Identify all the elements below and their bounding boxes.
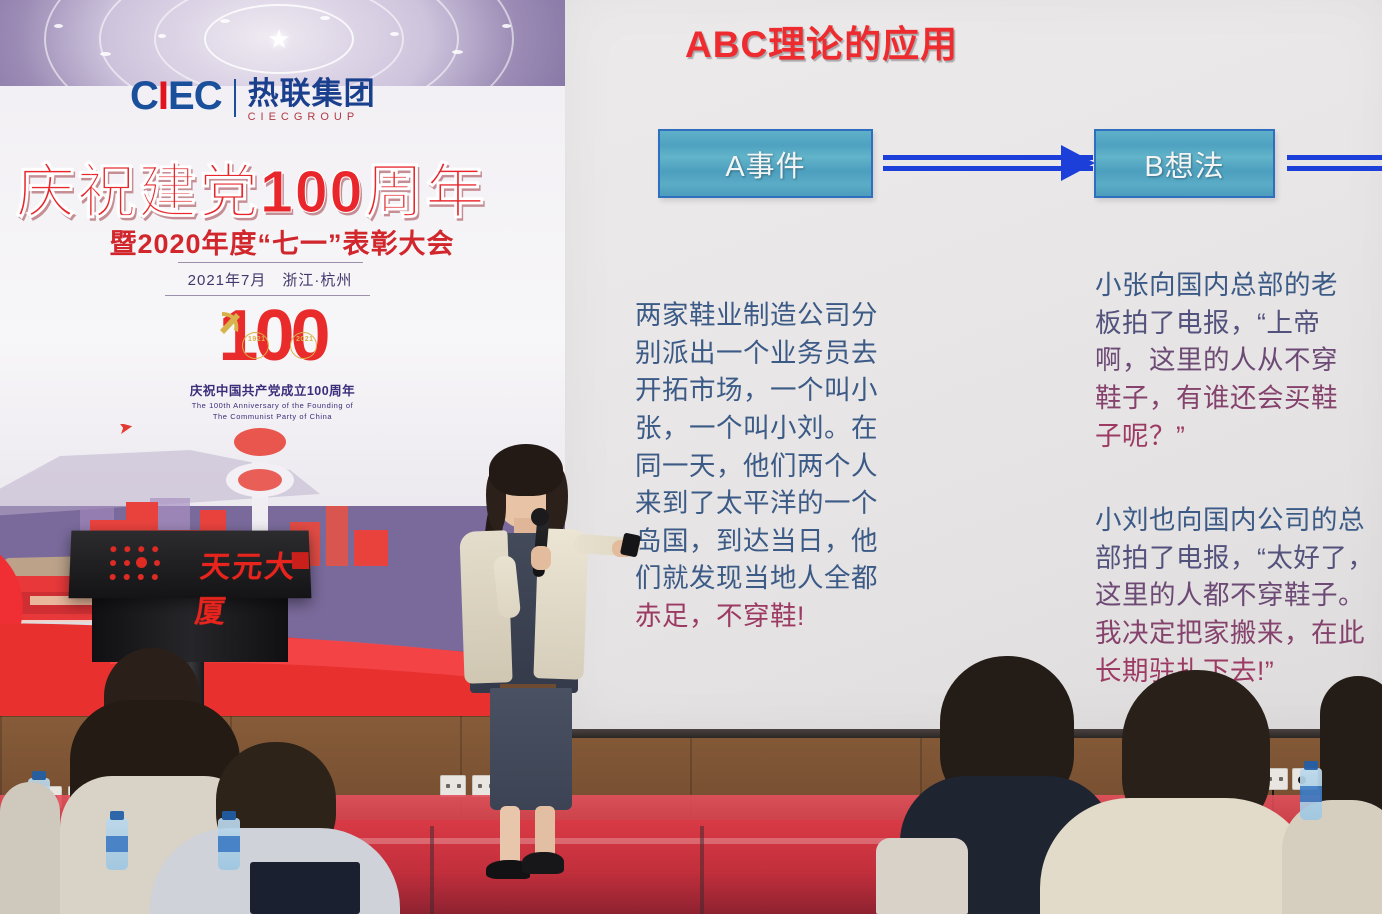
water-bottle[interactable]: [1300, 768, 1322, 820]
dove-icon: ➤: [117, 424, 135, 437]
cpc-centenary-emblem: 100 1921 2021 庆祝中国共产党成立100周年 The 100th A…: [180, 312, 365, 423]
water-bottle[interactable]: [218, 818, 240, 870]
arrow-head-icon: [1061, 145, 1095, 181]
scene-root: ★ CIEC 热联集团 CIECGROUP 庆祝建党100周年 暨2020年度“…: [0, 0, 1382, 914]
podium-seal-stamp: [292, 552, 310, 569]
para-line-highlight: 赤足，不穿鞋!: [635, 598, 915, 636]
para-line: 开拓市场，一个叫小: [635, 372, 915, 410]
speaker-hair-top: [489, 444, 563, 496]
para-line: 子呢？”: [1095, 418, 1382, 456]
microphone-head-icon: [531, 508, 549, 526]
hammer-sickle-icon: [216, 308, 246, 336]
stage-seam: [430, 826, 434, 914]
para-line: 别派出一个业务员去: [635, 335, 915, 373]
slide-paragraph-left: 两家鞋业制造公司分 别派出一个业务员去 开拓市场，一个叫小 张，一个叫小刘。在 …: [635, 297, 915, 636]
para-line: 部拍了电报，“太好了，: [1095, 540, 1382, 578]
audience-member: [1040, 798, 1316, 914]
para-line: 鞋子，有谁还会买鞋: [1095, 380, 1382, 418]
water-bottle[interactable]: [106, 818, 128, 870]
para-line: 小张向国内总部的老: [1095, 267, 1382, 305]
light-speck: [220, 19, 230, 23]
emblem-100-graphic: 100 1921 2021: [180, 312, 365, 378]
flow-box-b: B想法: [1094, 129, 1275, 198]
para-line: 小刘也向国内公司的总: [1095, 502, 1382, 540]
star-icon: ★: [267, 26, 290, 52]
banner-date-location: 2021年7月 浙江·杭州: [170, 269, 370, 290]
emblem-caption-cn: 庆祝中国共产党成立100周年: [180, 380, 365, 399]
ciec-logo: CIEC 热联集团 CIECGROUP: [130, 76, 376, 123]
flow-arrow-b-to-next: [1287, 150, 1382, 176]
banner-rule-top: [178, 262, 363, 263]
para-line: 同一天，他们两个人: [635, 448, 915, 486]
flow-box-b-label: B想法: [1144, 143, 1224, 185]
audience-member: [0, 782, 60, 914]
logo-letter-c2: C: [194, 74, 222, 118]
flow-box-a-label: A事件: [725, 143, 805, 185]
para-line: 两家鞋业制造公司分: [635, 297, 915, 335]
logo-letter-i: I: [158, 74, 168, 118]
banner-subheadline: 暨2020年度“七一”表彰大会: [72, 222, 492, 261]
flow-box-a: A事件: [658, 129, 873, 198]
para-line: 板拍了电报，“上帝: [1095, 305, 1382, 343]
podium-dot-matrix-logo: [109, 544, 180, 584]
speaker-skirt: [490, 688, 572, 810]
emblem-year-start: 1921: [248, 336, 266, 343]
para-line: 我决定把家搬来，在此: [1095, 615, 1382, 653]
para-line: 这里的人都不穿鞋子。: [1095, 577, 1382, 615]
emblem-caption-en-line1: The 100th Anniversary of the Founding of: [180, 400, 365, 411]
audience-chair[interactable]: [876, 838, 968, 914]
audience-member: [1282, 800, 1382, 914]
logo-english-name: CIECGROUP: [248, 112, 376, 123]
light-speck: [452, 50, 463, 54]
para-line: 来到了太平洋的一个: [635, 485, 915, 523]
flow-arrow-a-to-b: [883, 150, 1093, 176]
speaker-left-hand: [531, 546, 551, 570]
audience-table: [250, 862, 360, 914]
speaker-right-shoe: [522, 852, 564, 874]
para-line: 们就发现当地人全都: [635, 560, 915, 598]
arrow-line-top: [1287, 155, 1382, 160]
para-line: 张，一个叫小刘。在: [635, 410, 915, 448]
light-speck: [158, 34, 166, 38]
light-speck: [502, 24, 511, 28]
logo-chinese-name: 热联集团: [248, 78, 376, 109]
arrow-line-bottom: [1287, 166, 1382, 171]
light-speck: [390, 32, 399, 36]
podium-sign-panel: 天元大厦: [69, 531, 312, 599]
projection-screen: ABC理论的应用 A事件 B想法 两家鞋业制造公司分 别派出一个业务员去 开拓市…: [565, 0, 1382, 736]
logo-divider: [234, 79, 236, 117]
logo-letter-e: E: [168, 74, 194, 118]
ciec-wordmark: CIEC: [130, 76, 222, 116]
para-line: 岛国，到达当日，他: [635, 523, 915, 561]
stage-seam: [700, 826, 704, 914]
light-speck: [320, 16, 330, 20]
light-speck: [54, 24, 63, 28]
speaker-left-leg: [500, 806, 520, 868]
slide-title: ABC理论的应用: [685, 14, 958, 68]
emblem-year-end: 2021: [296, 336, 314, 343]
emblem-caption-en-line2: The Communist Party of China: [180, 411, 365, 422]
banner-headline: 庆祝建党100周年: [16, 144, 536, 229]
logo-letter-c1: C: [130, 74, 158, 118]
slide-paragraph-right-2: 小刘也向国内公司的总 部拍了电报，“太好了， 这里的人都不穿鞋子。 我决定把家搬…: [1095, 502, 1382, 690]
light-speck: [100, 52, 111, 56]
logo-chinese-block: 热联集团 CIECGROUP: [248, 76, 376, 123]
emblem-caption-en: The 100th Anniversary of the Founding of…: [180, 400, 365, 423]
para-line: 啊，这里的人从不穿: [1095, 342, 1382, 380]
slide-paragraph-right-1: 小张向国内总部的老 板拍了电报，“上帝 啊，这里的人从不穿 鞋子，有谁还会买鞋 …: [1095, 267, 1382, 455]
wall-socket[interactable]: [440, 775, 466, 797]
